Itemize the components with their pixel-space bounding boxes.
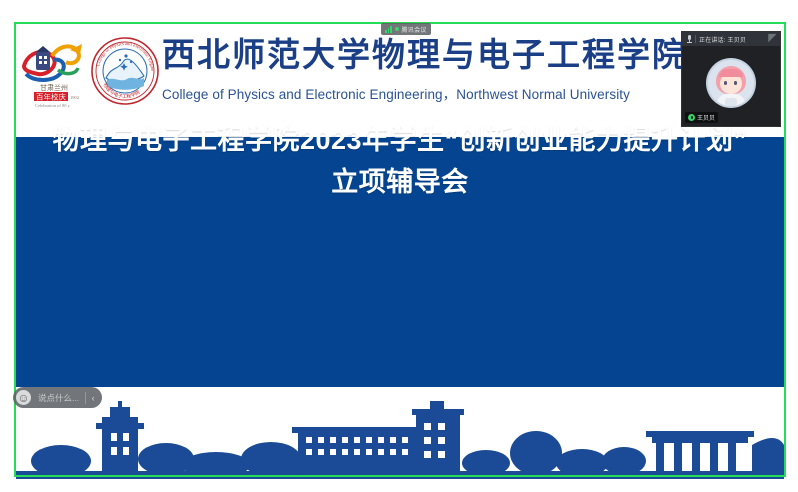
smiley-icon[interactable]: ☺ (16, 390, 31, 405)
header-divider (695, 35, 696, 43)
chevron-left-icon[interactable]: ‹ (86, 393, 100, 403)
video-panel-body[interactable]: 王贝贝 (682, 46, 780, 126)
80th-anniversary-logo: 甘肃兰州 百年校庆 1902 Celebration of 80 y (18, 30, 86, 114)
screen-share-view: 甘肃兰州 百年校庆 1902 Celebration of 80 y (0, 0, 798, 492)
participant-avatar (708, 60, 754, 106)
signal-bars-icon (385, 26, 392, 33)
tencent-meeting-label: 腾讯会议 (402, 25, 427, 34)
collapse-arrow-icon[interactable]: ◤ (767, 33, 778, 44)
header-title-block: 西北师范大学物理与电子工程学院 College of Physics and E… (162, 38, 687, 103)
svg-text:甘肃兰州: 甘肃兰州 (40, 83, 68, 92)
slide-title-line-2: 立项辅导会 (16, 162, 784, 204)
college-en-title: College of Physics and Electronic Engine… (162, 83, 687, 103)
college-cn-title: 西北师范大学物理与电子工程学院 (162, 38, 687, 76)
svg-text:Celebration of 80 y: Celebration of 80 y (35, 103, 71, 108)
gutter-right (786, 0, 798, 492)
mic-active-icon (688, 114, 695, 121)
chat-input-placeholder[interactable]: 说点什么... (38, 392, 79, 404)
campus-skyline-illustration (16, 387, 784, 479)
video-panel-header: 正在讲话: 王贝贝 ◤ (682, 32, 780, 46)
recording-dot-icon (395, 27, 399, 31)
participant-video-panel[interactable]: 正在讲话: 王贝贝 ◤ 王贝贝 (681, 31, 781, 127)
gutter-left (0, 0, 16, 492)
participant-name: 王贝贝 (697, 113, 715, 122)
slide-title-line-1: 物理与电子工程学院2023年学生“创新创业能力提升计划” (52, 125, 747, 155)
gutter-bottom (0, 0, 798, 14)
tencent-meeting-indicator: 腾讯会议 (381, 23, 431, 35)
svg-text:百年校庆: 百年校庆 (36, 92, 66, 102)
active-speaker-label: 正在讲话: 王贝贝 (699, 35, 746, 44)
slide-main-title: 物理与电子工程学院2023年学生“创新创业能力提升计划” 立项辅导会 (16, 120, 784, 204)
college-seal-logo: College of Physics and Electronic Engine… (90, 36, 160, 106)
chat-input-bar[interactable]: ☺ 说点什么... ‹ (13, 387, 102, 408)
presentation-slide: 甘肃兰州 百年校庆 1902 Celebration of 80 y (16, 24, 784, 479)
microphone-icon (687, 35, 692, 43)
participant-name-badge: 王贝贝 (685, 112, 718, 123)
svg-text:1902: 1902 (70, 95, 79, 100)
